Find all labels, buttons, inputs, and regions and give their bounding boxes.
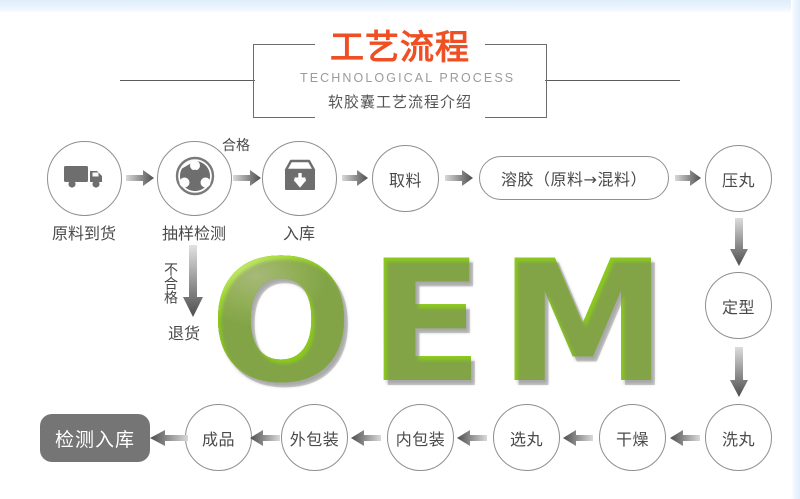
arrow-inner-to-outer-packaging bbox=[351, 430, 381, 446]
page-header: 工艺流程 TECHNOLOGICAL PROCESS 软胶囊工艺流程介绍 bbox=[0, 18, 800, 118]
node-inner-packaging[interactable]: 内包装 bbox=[387, 404, 454, 471]
arrow-outer-packaging-to-finished-product bbox=[250, 430, 280, 446]
node-outer-packaging-label: 外包装 bbox=[290, 426, 340, 450]
page-title-english: TECHNOLOGICAL PROCESS bbox=[300, 68, 500, 88]
header-rule-left bbox=[120, 80, 255, 81]
node-inspection-warehousing-label: 检测入库 bbox=[55, 425, 135, 452]
inbox-arrow-down-icon bbox=[280, 158, 320, 199]
edge-label-return-goods: 退货 bbox=[168, 320, 200, 344]
arrow-inspection-to-warehousing bbox=[233, 170, 261, 186]
node-pill-pressing-label: 压丸 bbox=[722, 167, 755, 191]
node-warehousing[interactable] bbox=[262, 141, 337, 216]
node-raw-material-arrival[interactable] bbox=[47, 141, 122, 216]
page-title: 工艺流程 bbox=[300, 28, 500, 68]
node-pill-washing[interactable]: 洗丸 bbox=[705, 404, 772, 471]
node-shaping[interactable]: 定型 bbox=[705, 272, 772, 339]
header-bracket-left bbox=[253, 44, 276, 118]
oem-watermark: OEM bbox=[196, 238, 696, 410]
arrow-sol-gel-to-pill-pressing bbox=[675, 170, 701, 186]
arrow-finished-product-to-inspection-warehousing bbox=[150, 430, 188, 446]
node-pill-selection[interactable]: 选丸 bbox=[493, 404, 560, 471]
flowchart-canvas: 工艺流程 TECHNOLOGICAL PROCESS 软胶囊工艺流程介绍 OEM… bbox=[0, 0, 800, 499]
arrow-shaping-to-pill-washing bbox=[730, 347, 748, 397]
arrow-pill-washing-to-drying bbox=[670, 430, 700, 446]
node-outer-packaging[interactable]: 外包装 bbox=[281, 404, 348, 471]
node-take-material[interactable]: 取料 bbox=[372, 145, 439, 212]
node-drying[interactable]: 干燥 bbox=[599, 404, 666, 471]
node-shaping-label: 定型 bbox=[722, 294, 755, 318]
truck-icon bbox=[63, 162, 107, 195]
arrow-pill-pressing-to-shaping bbox=[730, 218, 748, 266]
arrow-truck-to-inspection bbox=[126, 170, 154, 186]
header-text-group: 工艺流程 TECHNOLOGICAL PROCESS 软胶囊工艺流程介绍 bbox=[300, 28, 500, 115]
arrow-take-material-to-sol-gel bbox=[445, 170, 473, 186]
edge-label-qualified: 合格 bbox=[222, 135, 250, 155]
arrow-unqualified-to-return-goods bbox=[183, 245, 203, 317]
node-pill-selection-label: 选丸 bbox=[510, 426, 543, 450]
node-take-material-label: 取料 bbox=[389, 167, 422, 191]
page-subtitle: 软胶囊工艺流程介绍 bbox=[300, 89, 500, 115]
caption-sampling-inspection: 抽样检测 bbox=[144, 220, 244, 244]
node-drying-label: 干燥 bbox=[616, 426, 649, 450]
node-pill-washing-label: 洗丸 bbox=[722, 426, 755, 450]
node-finished-product-label: 成品 bbox=[202, 426, 235, 450]
header-rule-right bbox=[545, 80, 680, 81]
node-pill-pressing[interactable]: 压丸 bbox=[705, 145, 772, 212]
caption-warehousing: 入库 bbox=[249, 220, 349, 244]
edge-label-unqualified: 不合格 bbox=[160, 262, 180, 324]
inspection-gear-icon bbox=[174, 155, 216, 202]
header-bracket-right bbox=[524, 44, 547, 118]
node-sampling-inspection[interactable] bbox=[157, 141, 232, 216]
node-finished-product[interactable]: 成品 bbox=[185, 404, 252, 471]
arrow-drying-to-pill-selection bbox=[563, 430, 593, 446]
arrow-pill-selection-to-inner-packaging bbox=[457, 430, 487, 446]
node-sol-gel[interactable]: 溶胶（原料→混料） bbox=[479, 156, 669, 200]
node-inner-packaging-label: 内包装 bbox=[396, 426, 446, 450]
node-inspection-warehousing[interactable]: 检测入库 bbox=[40, 414, 150, 462]
arrow-warehousing-to-take-material bbox=[342, 170, 368, 186]
top-edge-band bbox=[0, 0, 800, 13]
node-sol-gel-label: 溶胶（原料→混料） bbox=[501, 166, 647, 190]
caption-raw-material-arrival: 原料到货 bbox=[34, 220, 134, 244]
